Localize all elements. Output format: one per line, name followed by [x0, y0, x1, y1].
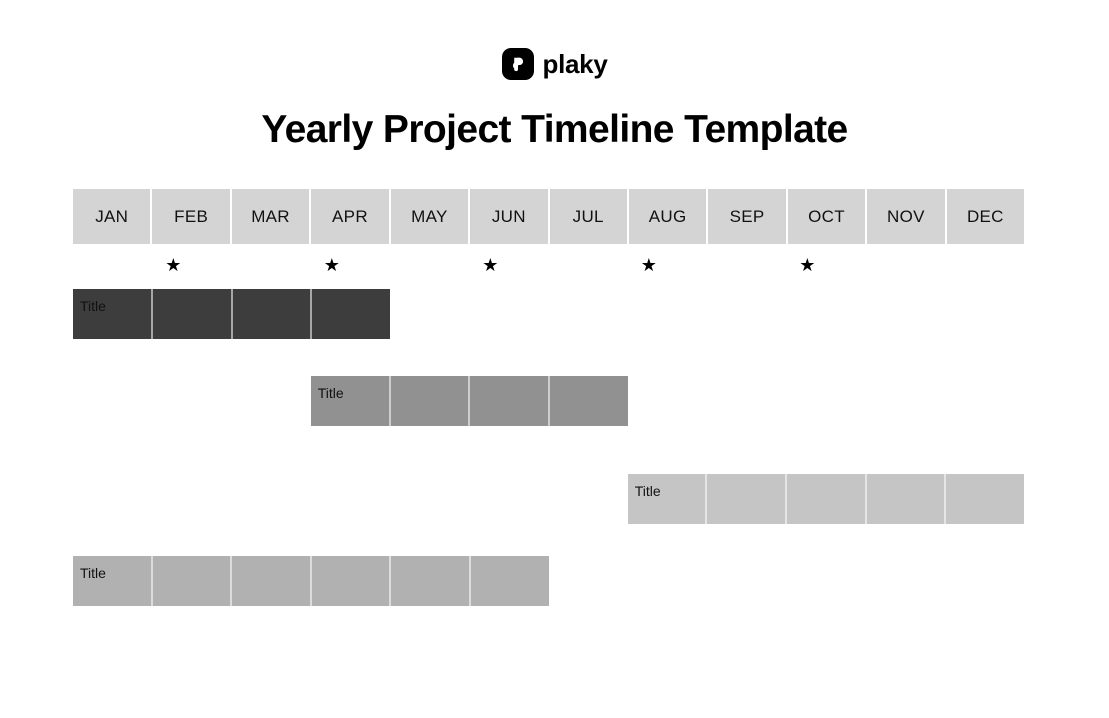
- task-bar-segment[interactable]: Title: [707, 474, 787, 524]
- task-bars-area: TitleTitleTitleTitleTitleTitleTitleTitle…: [73, 289, 1024, 709]
- month-cell-apr[interactable]: APR: [311, 189, 390, 244]
- task-bar-title: Title: [80, 564, 106, 582]
- task-bar[interactable]: TitleTitleTitleTitleTitleTitle: [73, 556, 549, 606]
- milestone-slot-may: [390, 244, 469, 286]
- milestone-star-icon-apr[interactable]: ★: [311, 244, 390, 286]
- milestone-marker-row: ★★★★★: [73, 244, 1024, 286]
- task-bar[interactable]: TitleTitleTitleTitle: [311, 376, 628, 426]
- month-cell-sep[interactable]: SEP: [708, 189, 787, 244]
- task-bar[interactable]: TitleTitleTitleTitle: [73, 289, 390, 339]
- task-bar-segment[interactable]: Title: [312, 556, 392, 606]
- milestone-star-icon-feb[interactable]: ★: [152, 244, 231, 286]
- task-bar-segment[interactable]: Title: [232, 556, 312, 606]
- timeline: JANFEBMARAPRMAYJUNJULAUGSEPOCTNOVDEC ★★★…: [73, 189, 1024, 709]
- month-cell-feb[interactable]: FEB: [152, 189, 231, 244]
- task-bar-segment[interactable]: Title: [73, 289, 153, 339]
- month-cell-jun[interactable]: JUN: [470, 189, 549, 244]
- task-bar-segment[interactable]: Title: [470, 376, 550, 426]
- task-bar-segment[interactable]: Title: [391, 376, 471, 426]
- task-bar-segment[interactable]: Title: [471, 556, 549, 606]
- task-bar-segment[interactable]: Title: [946, 474, 1024, 524]
- milestone-slot-sep: [707, 244, 786, 286]
- task-bar-segment[interactable]: Title: [867, 474, 947, 524]
- milestone-slot-dec: [945, 244, 1024, 286]
- task-bar-segment[interactable]: Title: [628, 474, 708, 524]
- month-cell-dec[interactable]: DEC: [947, 189, 1024, 244]
- task-bar-title: Title: [80, 297, 106, 315]
- task-bar[interactable]: TitleTitleTitleTitleTitle: [628, 474, 1024, 524]
- milestone-slot-jul: [549, 244, 628, 286]
- page-title: Yearly Project Timeline Template: [0, 106, 1109, 154]
- month-header-row: JANFEBMARAPRMAYJUNJULAUGSEPOCTNOVDEC: [73, 189, 1024, 244]
- task-bar-segment[interactable]: Title: [312, 289, 390, 339]
- brand-name: plaky: [543, 51, 608, 77]
- timeline-template-page: plaky Yearly Project Timeline Template J…: [0, 0, 1109, 718]
- milestone-star-icon-oct[interactable]: ★: [786, 244, 865, 286]
- task-bar-segment[interactable]: Title: [550, 376, 628, 426]
- milestone-star-icon-aug[interactable]: ★: [628, 244, 707, 286]
- month-cell-oct[interactable]: OCT: [788, 189, 867, 244]
- task-bar-segment[interactable]: Title: [391, 556, 471, 606]
- task-bar-segment[interactable]: Title: [233, 289, 313, 339]
- month-cell-jul[interactable]: JUL: [550, 189, 629, 244]
- task-bar-segment[interactable]: Title: [153, 556, 233, 606]
- task-bar-segment[interactable]: Title: [311, 376, 391, 426]
- task-bar-segment[interactable]: Title: [787, 474, 867, 524]
- task-bar-segment[interactable]: Title: [153, 289, 233, 339]
- brand-lockup: plaky: [0, 48, 1109, 80]
- month-cell-jan[interactable]: JAN: [73, 189, 152, 244]
- milestone-slot-mar: [232, 244, 311, 286]
- month-cell-may[interactable]: MAY: [391, 189, 470, 244]
- milestone-star-icon-jun[interactable]: ★: [469, 244, 548, 286]
- plaky-logo-icon: [502, 48, 534, 80]
- month-cell-mar[interactable]: MAR: [232, 189, 311, 244]
- task-bar-title: Title: [635, 482, 661, 500]
- task-bar-title: Title: [318, 384, 344, 402]
- month-cell-nov[interactable]: NOV: [867, 189, 946, 244]
- milestone-slot-jan: [73, 244, 152, 286]
- milestone-slot-nov: [866, 244, 945, 286]
- task-bar-segment[interactable]: Title: [73, 556, 153, 606]
- month-cell-aug[interactable]: AUG: [629, 189, 708, 244]
